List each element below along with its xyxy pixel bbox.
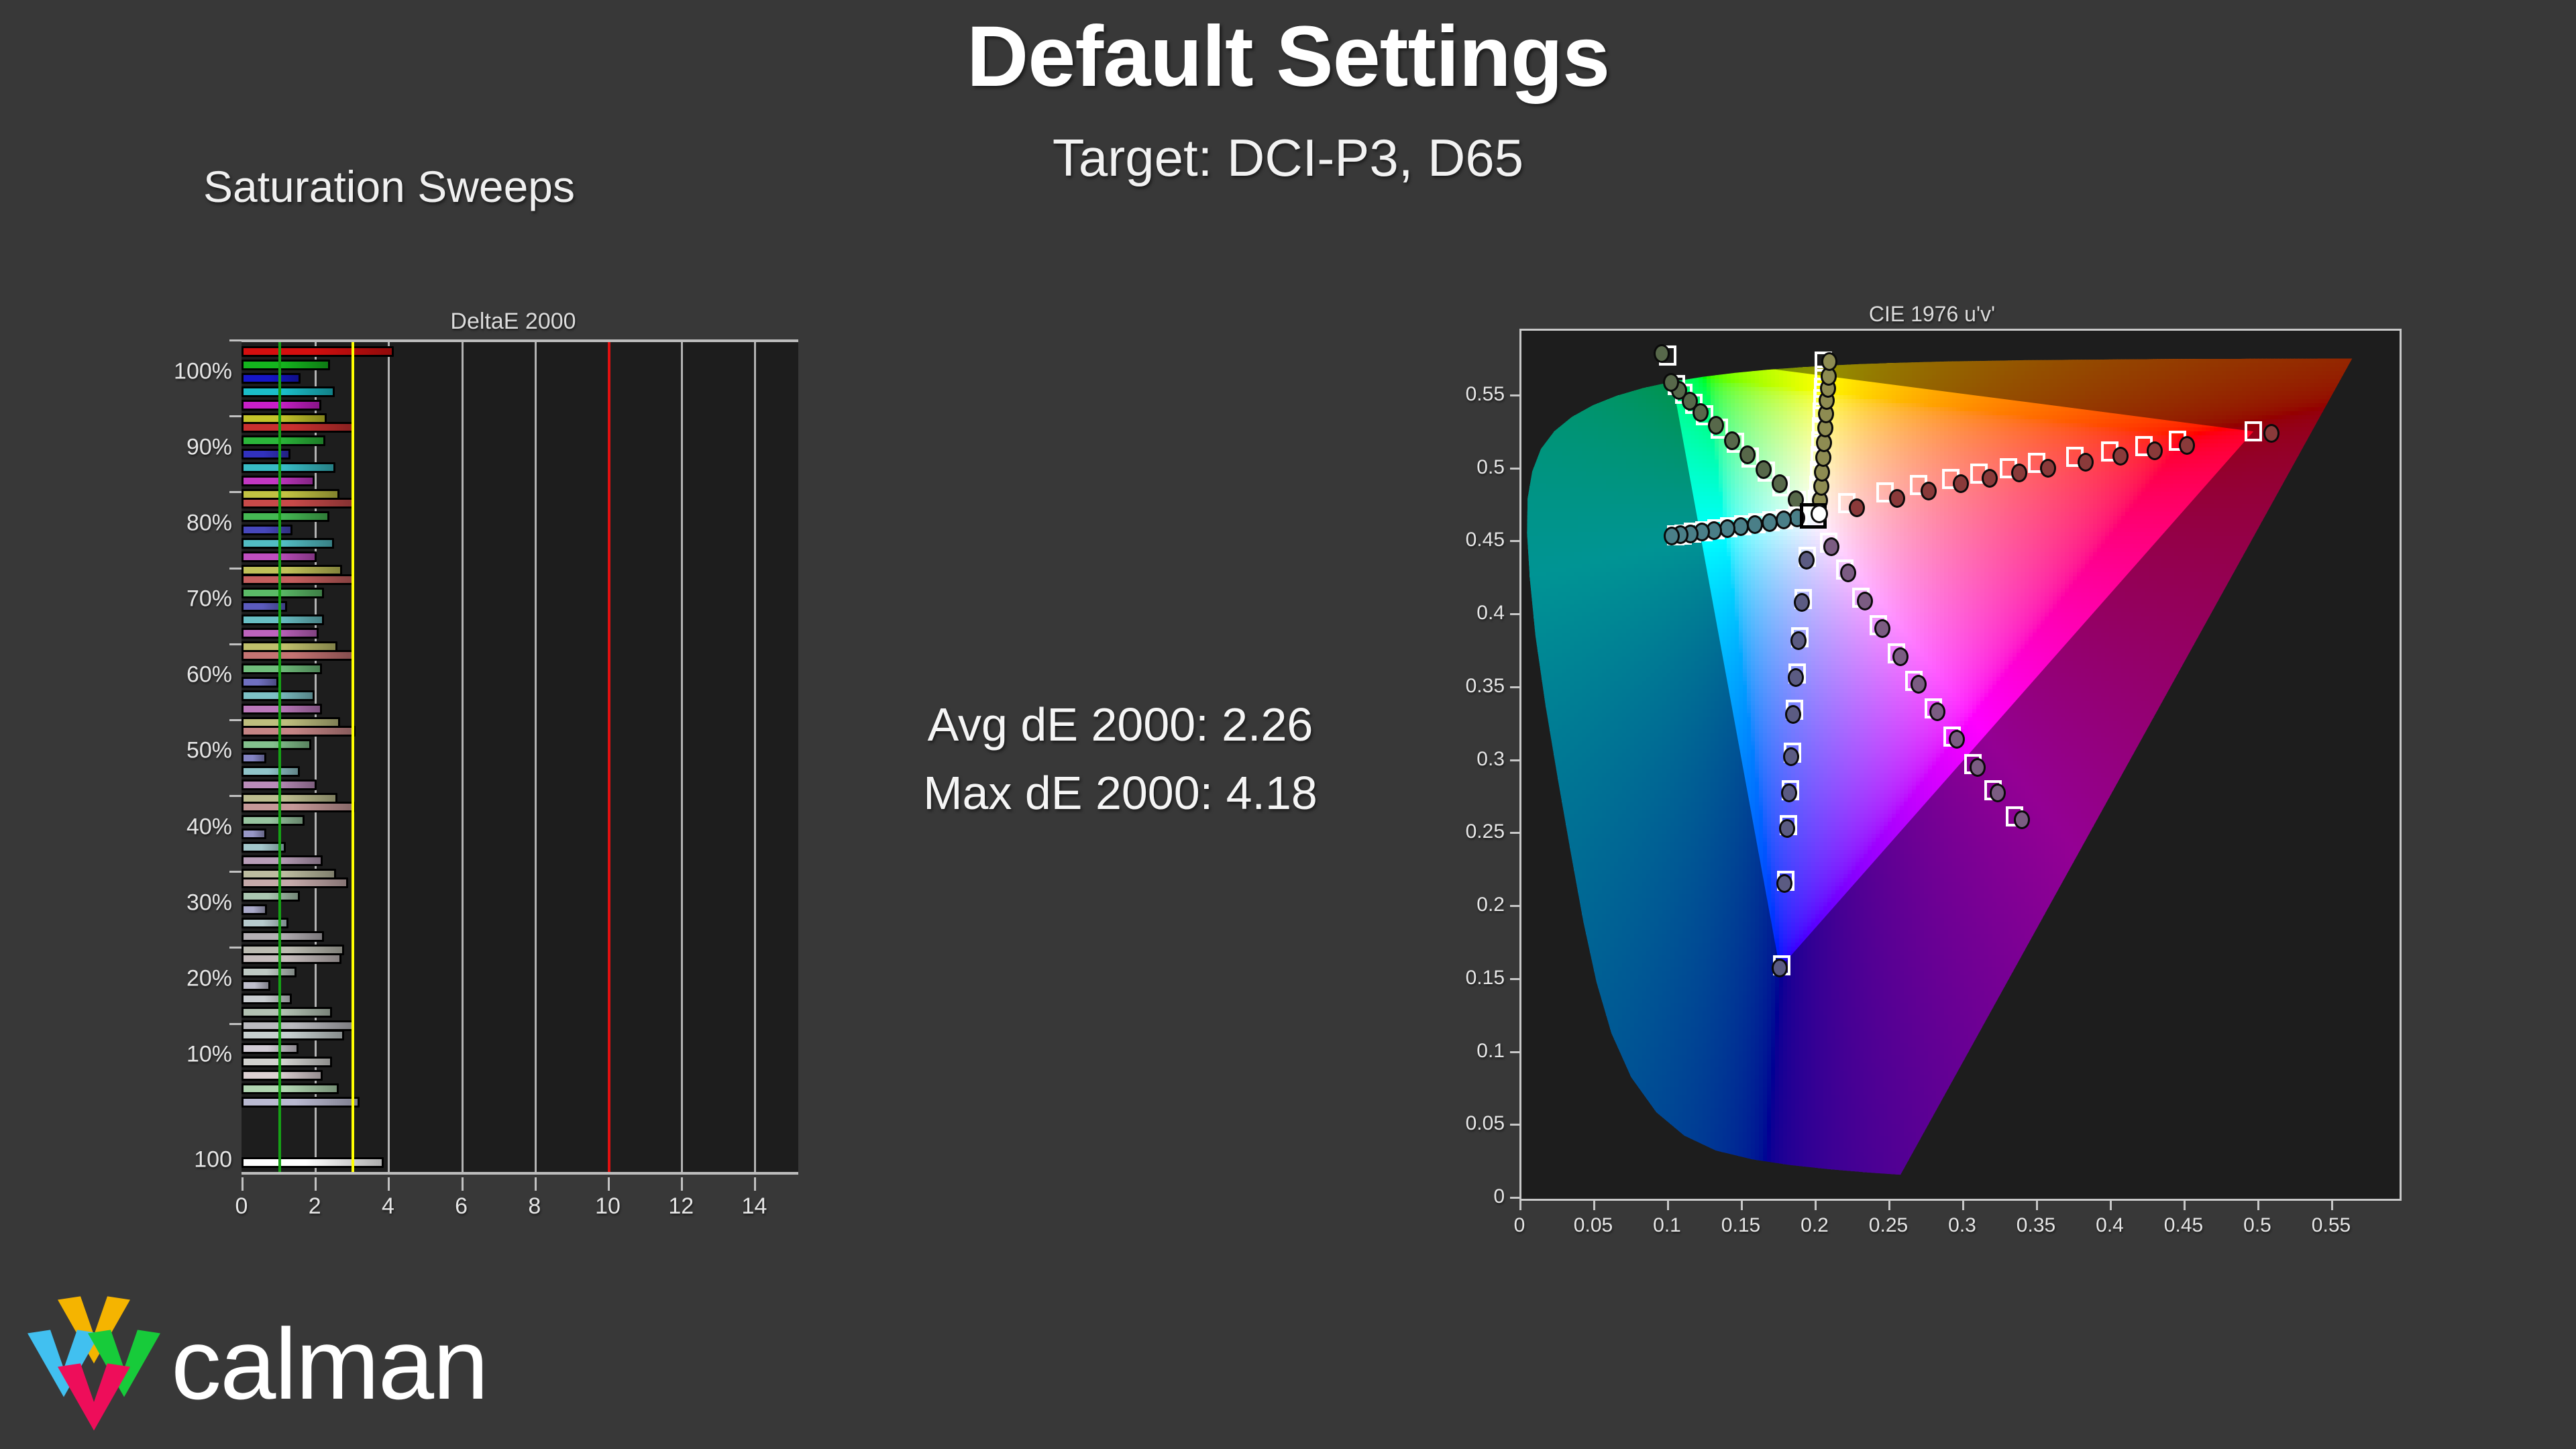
bar-chart-bar-row: [241, 551, 798, 562]
cie-x-tick: [1741, 1201, 1743, 1210]
cie-x-tick: [1888, 1201, 1890, 1210]
bar-chart-y-label: 50%: [186, 738, 232, 764]
bar-chart-bar-row: [241, 538, 798, 549]
bar-chart-y-label: 10%: [186, 1042, 232, 1068]
cie-measured-point: [1739, 445, 1756, 464]
bar-chart-x-label: 2: [309, 1193, 321, 1220]
bar-chart-bar-row: [241, 1070, 798, 1081]
bar-chart-y-tick: [229, 339, 241, 341]
cie-chart-title: CIE 1976 u'v': [1422, 302, 2442, 327]
cie-y-label: 0.4: [1477, 602, 1505, 625]
cie-measured-point: [1857, 592, 1873, 610]
cie-measured-point: [1654, 344, 1670, 363]
bar-chart-bar: [241, 525, 292, 535]
cie-x-label: 0: [1514, 1214, 1525, 1237]
cie-y-label: 0.3: [1477, 748, 1505, 771]
bar-chart-bar-row: [241, 1097, 798, 1108]
cie-x-tick: [2184, 1201, 2186, 1210]
cie-x-tick: [1962, 1201, 1964, 1210]
cie-measured-point: [1794, 593, 1810, 612]
cie-y-tick: [1510, 540, 1519, 542]
bar-chart-bar: [241, 855, 323, 866]
bar-chart-bar: [241, 614, 324, 625]
bar-chart-bar: [241, 360, 330, 370]
cie-measured-point: [1785, 705, 1801, 724]
bar-chart-bar: [241, 815, 305, 826]
bar-chart-bar-row: [241, 967, 798, 977]
bar-chart-bar-row: [241, 855, 798, 866]
bar-chart-bar-row: [241, 511, 798, 522]
bar-chart-bar: [241, 650, 354, 661]
bar-chart-bar: [241, 953, 341, 964]
cie-y-tick: [1510, 1197, 1519, 1199]
bar-chart-bar-row: [241, 918, 798, 928]
bar-chart-bar-row: [241, 1157, 798, 1168]
bar-chart-bar-row: [241, 753, 798, 763]
cie-measured-point: [1733, 517, 1749, 536]
max-de-value: Max dE 2000: 4.18: [832, 759, 1409, 828]
bar-chart-y-tick: [229, 1023, 241, 1025]
bar-chart-bar-row: [241, 360, 798, 370]
bar-chart-bar: [241, 386, 335, 397]
bar-chart-bar-row: [241, 877, 798, 888]
cie-measured-point: [1929, 702, 1945, 721]
bar-chart-bar: [241, 373, 301, 384]
cie-measured-point: [1821, 352, 1837, 371]
bar-chart-y-tick: [229, 415, 241, 417]
bar-chart-bar-row: [241, 663, 798, 674]
calman-wordmark: calman: [171, 1306, 488, 1422]
cie-out-of-gamut-shade: [1527, 359, 2352, 1175]
bar-chart-x-label: 10: [595, 1193, 621, 1220]
bar-chart-bar: [241, 574, 354, 585]
cie-x-label: 0.2: [1801, 1214, 1829, 1237]
cie-measured-point: [2040, 459, 2056, 478]
cie-y-tick: [1510, 686, 1519, 688]
bar-chart-bar-row: [241, 953, 798, 964]
bar-chart-bar: [241, 1007, 332, 1018]
cie-y-label: 0.1: [1477, 1040, 1505, 1063]
cie-measured-point: [1823, 537, 1839, 556]
cie-measured-point: [2078, 453, 2094, 472]
cie-measured-point: [1756, 460, 1772, 479]
bar-chart-bar: [241, 1083, 339, 1094]
cie-y-label: 0.05: [1466, 1112, 1505, 1135]
bar-chart-x-tick: [462, 1177, 464, 1191]
bar-chart-bar-row: [241, 828, 798, 839]
cie-target-marker: [2245, 421, 2262, 441]
cie-measured-point: [1779, 819, 1795, 838]
cie-y-tick: [1510, 978, 1519, 980]
cie-x-label: 0.15: [1721, 1214, 1760, 1237]
bar-chart-bar-row: [241, 690, 798, 701]
bar-chart-y-tick: [229, 568, 241, 570]
cie-measured-point: [1840, 563, 1856, 582]
bar-chart-x-tick: [535, 1177, 537, 1191]
cie-x-tick: [1815, 1201, 1817, 1210]
bar-chart-bar-row: [241, 422, 798, 433]
bar-chart-bar: [241, 663, 322, 674]
bar-chart-bar: [241, 422, 354, 433]
bar-chart-y-label: 20%: [186, 965, 232, 991]
bar-chart-bar-row: [241, 1057, 798, 1067]
cie-x-label: 0.35: [2017, 1214, 2055, 1237]
cie-measured-point: [1949, 730, 1965, 749]
bar-chart-bar: [241, 802, 355, 812]
cie-measured-point: [1892, 647, 1909, 666]
bar-chart-bar-row: [241, 1043, 798, 1054]
bar-chart-bar: [241, 1097, 360, 1108]
bar-chart-y-tick: [229, 795, 241, 797]
cie-y-tick: [1510, 759, 1519, 761]
bar-chart-bar: [241, 766, 300, 777]
page-title: Default Settings: [0, 12, 2576, 102]
cie-x-tick: [2257, 1201, 2259, 1210]
bar-chart-bar: [241, 753, 266, 763]
cie-x-tick: [1667, 1201, 1669, 1210]
bar-chart-y-label: 60%: [186, 662, 232, 688]
cie-y-label: 0.5: [1477, 456, 1505, 479]
cie-measured-point: [1724, 431, 1740, 450]
cie-measured-point: [1772, 474, 1788, 493]
bar-chart-y-label: 100: [194, 1147, 232, 1173]
calman-diamond-icon: [27, 1295, 161, 1432]
bar-chart-x-label: 12: [668, 1193, 694, 1220]
cie-x-label: 0.55: [2312, 1214, 2351, 1237]
cie-measured-point: [1849, 498, 1865, 517]
cie-y-tick: [1510, 1124, 1519, 1126]
cie-measured-point: [2014, 810, 2030, 829]
cie-1976-chart: CIE 1976 u'v' 00.050.10.150.20.250.30.35…: [1422, 302, 2442, 1228]
cie-measured-point: [1776, 874, 1792, 893]
bar-chart-bar: [241, 931, 324, 942]
bar-chart-bar-row: [241, 650, 798, 661]
bar-chart-y-tick: [229, 643, 241, 645]
calman-chevron-right: [88, 1330, 160, 1397]
cie-measured-point: [1776, 511, 1792, 529]
bar-chart-bar: [241, 1070, 323, 1081]
cie-measured-point: [1747, 515, 1763, 534]
calman-chevron-top: [58, 1296, 130, 1363]
bar-chart-title: DeltaE 2000: [221, 309, 805, 335]
bar-chart-bar: [241, 877, 348, 888]
cie-measured-point: [1762, 513, 1778, 532]
bar-chart-bar-row: [241, 980, 798, 991]
bar-chart-bar-row: [241, 766, 798, 777]
bar-chart-x-tick: [754, 1177, 756, 1191]
bar-chart-bar: [241, 1157, 384, 1168]
cie-measured-point: [1783, 747, 1799, 766]
cie-measured-point: [1889, 489, 1905, 508]
bar-chart-bar: [241, 511, 329, 522]
bar-chart-bar-row: [241, 726, 798, 737]
bar-chart-bar-row: [241, 449, 798, 460]
cie-x-label: 0.1: [1653, 1214, 1681, 1237]
bar-chart-bar-row: [241, 525, 798, 535]
cie-y-label: 0.15: [1466, 967, 1505, 989]
bar-chart-bar: [241, 588, 324, 598]
avg-de-value: Avg dE 2000: 2.26: [832, 691, 1409, 759]
bar-chart-bar-row: [241, 780, 798, 790]
cie-measured-point: [1953, 474, 1969, 493]
bar-chart-bar: [241, 538, 334, 549]
cie-measured-point: [1781, 784, 1797, 802]
cie-measured-point: [1772, 959, 1788, 977]
bar-chart-bar-row: [241, 400, 798, 411]
bar-chart-y-tick: [229, 871, 241, 873]
cie-measured-point: [2263, 424, 2279, 443]
bar-chart-bar: [241, 739, 311, 750]
bar-chart-bar: [241, 346, 394, 357]
bar-chart-bar: [241, 435, 325, 446]
cie-x-label: 0.5: [2243, 1214, 2271, 1237]
cie-measured-point: [1990, 784, 2006, 802]
bar-chart-bar: [241, 449, 290, 460]
bar-chart-bar-row: [241, 574, 798, 585]
bar-chart-x-tick: [315, 1177, 317, 1191]
cie-measured-point: [1708, 416, 1724, 435]
cie-y-tick: [1510, 468, 1519, 470]
cie-measured-point: [1663, 373, 1679, 392]
cie-plot-area: [1519, 329, 2402, 1201]
bar-chart-bar: [241, 462, 335, 473]
bar-chart-bar: [241, 828, 266, 839]
bar-chart-bar-row: [241, 994, 798, 1004]
bar-chart-bar-row: [241, 386, 798, 397]
cie-measured-point: [2112, 447, 2129, 466]
bar-chart-x-tick: [388, 1177, 390, 1191]
bar-chart-bar-row: [241, 588, 798, 598]
bar-chart-x-label: 0: [235, 1193, 248, 1220]
cie-y-label: 0.55: [1466, 383, 1505, 406]
bar-chart-bar: [241, 918, 288, 928]
cie-y-tick: [1510, 832, 1519, 834]
saturation-sweeps-heading: Saturation Sweeps: [154, 161, 624, 212]
bar-chart-y-tick: [229, 719, 241, 721]
bar-chart-x-tick: [681, 1177, 683, 1191]
calman-chevron-bottom: [58, 1363, 130, 1430]
bar-chart-x-label: 8: [528, 1193, 541, 1220]
cie-x-tick: [1519, 1201, 1521, 1210]
cie-white-point-measured: [1811, 504, 1828, 523]
bar-chart-bar: [241, 400, 321, 411]
bar-chart-bar: [241, 904, 267, 915]
bar-chart-bar-row: [241, 1030, 798, 1040]
bar-chart-y-label: 90%: [186, 434, 232, 460]
cie-measured-point: [1799, 551, 1815, 570]
bar-chart-bar: [241, 726, 356, 737]
cie-measured-point: [1788, 668, 1804, 687]
bar-chart-x-label: 4: [382, 1193, 394, 1220]
bar-chart-y-label: 80%: [186, 510, 232, 536]
delta-e-stats: Avg dE 2000: 2.26 Max dE 2000: 4.18: [832, 691, 1409, 827]
bar-chart-reference-line: [352, 342, 354, 1172]
bar-chart-x-tick: [241, 1177, 244, 1191]
bar-chart-plot-area: [241, 339, 798, 1175]
bar-chart-bar-row: [241, 462, 798, 473]
bar-chart-bar-row: [241, 498, 798, 508]
bar-chart-bar-row: [241, 931, 798, 942]
cie-x-tick: [2331, 1201, 2333, 1210]
bar-chart-bar-row: [241, 815, 798, 826]
bar-chart-y-tick: [229, 491, 241, 493]
bar-chart-bar: [241, 1057, 332, 1067]
bar-chart-bar: [241, 677, 278, 688]
bar-chart-x-label: 6: [455, 1193, 468, 1220]
cie-x-label: 0.05: [1574, 1214, 1613, 1237]
bar-chart-reference-line: [608, 342, 610, 1172]
cie-measured-point: [1982, 469, 1998, 488]
bar-chart-y-label: 100%: [174, 358, 232, 384]
bar-chart-bar: [241, 891, 300, 902]
bar-chart-bar-row: [241, 1007, 798, 1018]
delta-e-bar-chart: DeltaE 2000 100%90%80%70%60%50%40%30%20%…: [221, 309, 805, 1221]
bar-chart-bar: [241, 704, 322, 714]
cie-measured-point: [2011, 464, 2027, 482]
cie-measured-point: [1911, 675, 1927, 694]
bar-chart-bar-row: [241, 677, 798, 688]
cie-x-tick: [1593, 1201, 1595, 1210]
bar-chart-bar-row: [241, 346, 798, 357]
cie-measured-point: [2147, 441, 2163, 460]
bar-chart-bar-row: [241, 476, 798, 486]
cie-y-label: 0.25: [1466, 820, 1505, 843]
bar-chart-bar-row: [241, 704, 798, 714]
bar-chart-bar-row: [241, 373, 798, 384]
bar-chart-bar: [241, 980, 270, 991]
bar-chart-bar-row: [241, 739, 798, 750]
bar-chart-bar: [241, 967, 297, 977]
bar-chart-y-label: 70%: [186, 586, 232, 612]
cie-x-label: 0.25: [1869, 1214, 1908, 1237]
bar-chart-bar: [241, 1030, 344, 1040]
cie-measured-point: [1921, 482, 1937, 500]
bar-chart-bar-row: [241, 628, 798, 639]
cie-y-tick: [1510, 394, 1519, 396]
cie-chromaticity-svg: [1521, 331, 2400, 1199]
bar-chart-bar: [241, 498, 354, 508]
cie-x-label: 0.45: [2164, 1214, 2203, 1237]
bar-chart-y-tick: [229, 947, 241, 949]
bar-chart-bar-row: [241, 601, 798, 612]
bar-chart-bar-row: [241, 802, 798, 812]
cie-y-tick: [1510, 613, 1519, 615]
cie-measured-point: [1970, 758, 1986, 777]
bar-chart-y-label: 30%: [186, 890, 232, 916]
bar-chart-x-tick: [608, 1177, 610, 1191]
bar-chart-bar-row: [241, 1083, 798, 1094]
cie-x-tick: [2110, 1201, 2112, 1210]
cie-y-tick: [1510, 905, 1519, 907]
bar-chart-bar: [241, 994, 292, 1004]
cie-y-label: 0: [1493, 1185, 1505, 1208]
cie-measured-point: [1664, 527, 1680, 545]
bar-chart-x-label: 14: [742, 1193, 767, 1220]
bar-chart-bar-row: [241, 904, 798, 915]
bar-chart-reference-line: [278, 342, 281, 1172]
cie-measured-point: [2179, 436, 2195, 455]
bar-chart-bar: [241, 1043, 299, 1054]
cie-y-tick: [1510, 1051, 1519, 1053]
cie-x-label: 0.4: [2096, 1214, 2124, 1237]
cie-measured-point: [1874, 619, 1890, 638]
cie-y-label: 0.2: [1477, 894, 1505, 916]
bar-chart-bar-row: [241, 842, 798, 853]
bar-chart-bar-row: [241, 435, 798, 446]
bar-chart-y-label: 40%: [186, 814, 232, 840]
bar-chart-bar-row: [241, 891, 798, 902]
cie-y-label: 0.35: [1466, 675, 1505, 698]
cie-measured-point: [1790, 631, 1807, 650]
cie-y-label: 0.45: [1466, 529, 1505, 551]
calman-logo: calman: [20, 1291, 691, 1436]
cie-x-label: 0.3: [1948, 1214, 1976, 1237]
cie-x-tick: [2036, 1201, 2038, 1210]
calman-chevron-left: [28, 1330, 100, 1397]
bar-chart-bar-row: [241, 614, 798, 625]
